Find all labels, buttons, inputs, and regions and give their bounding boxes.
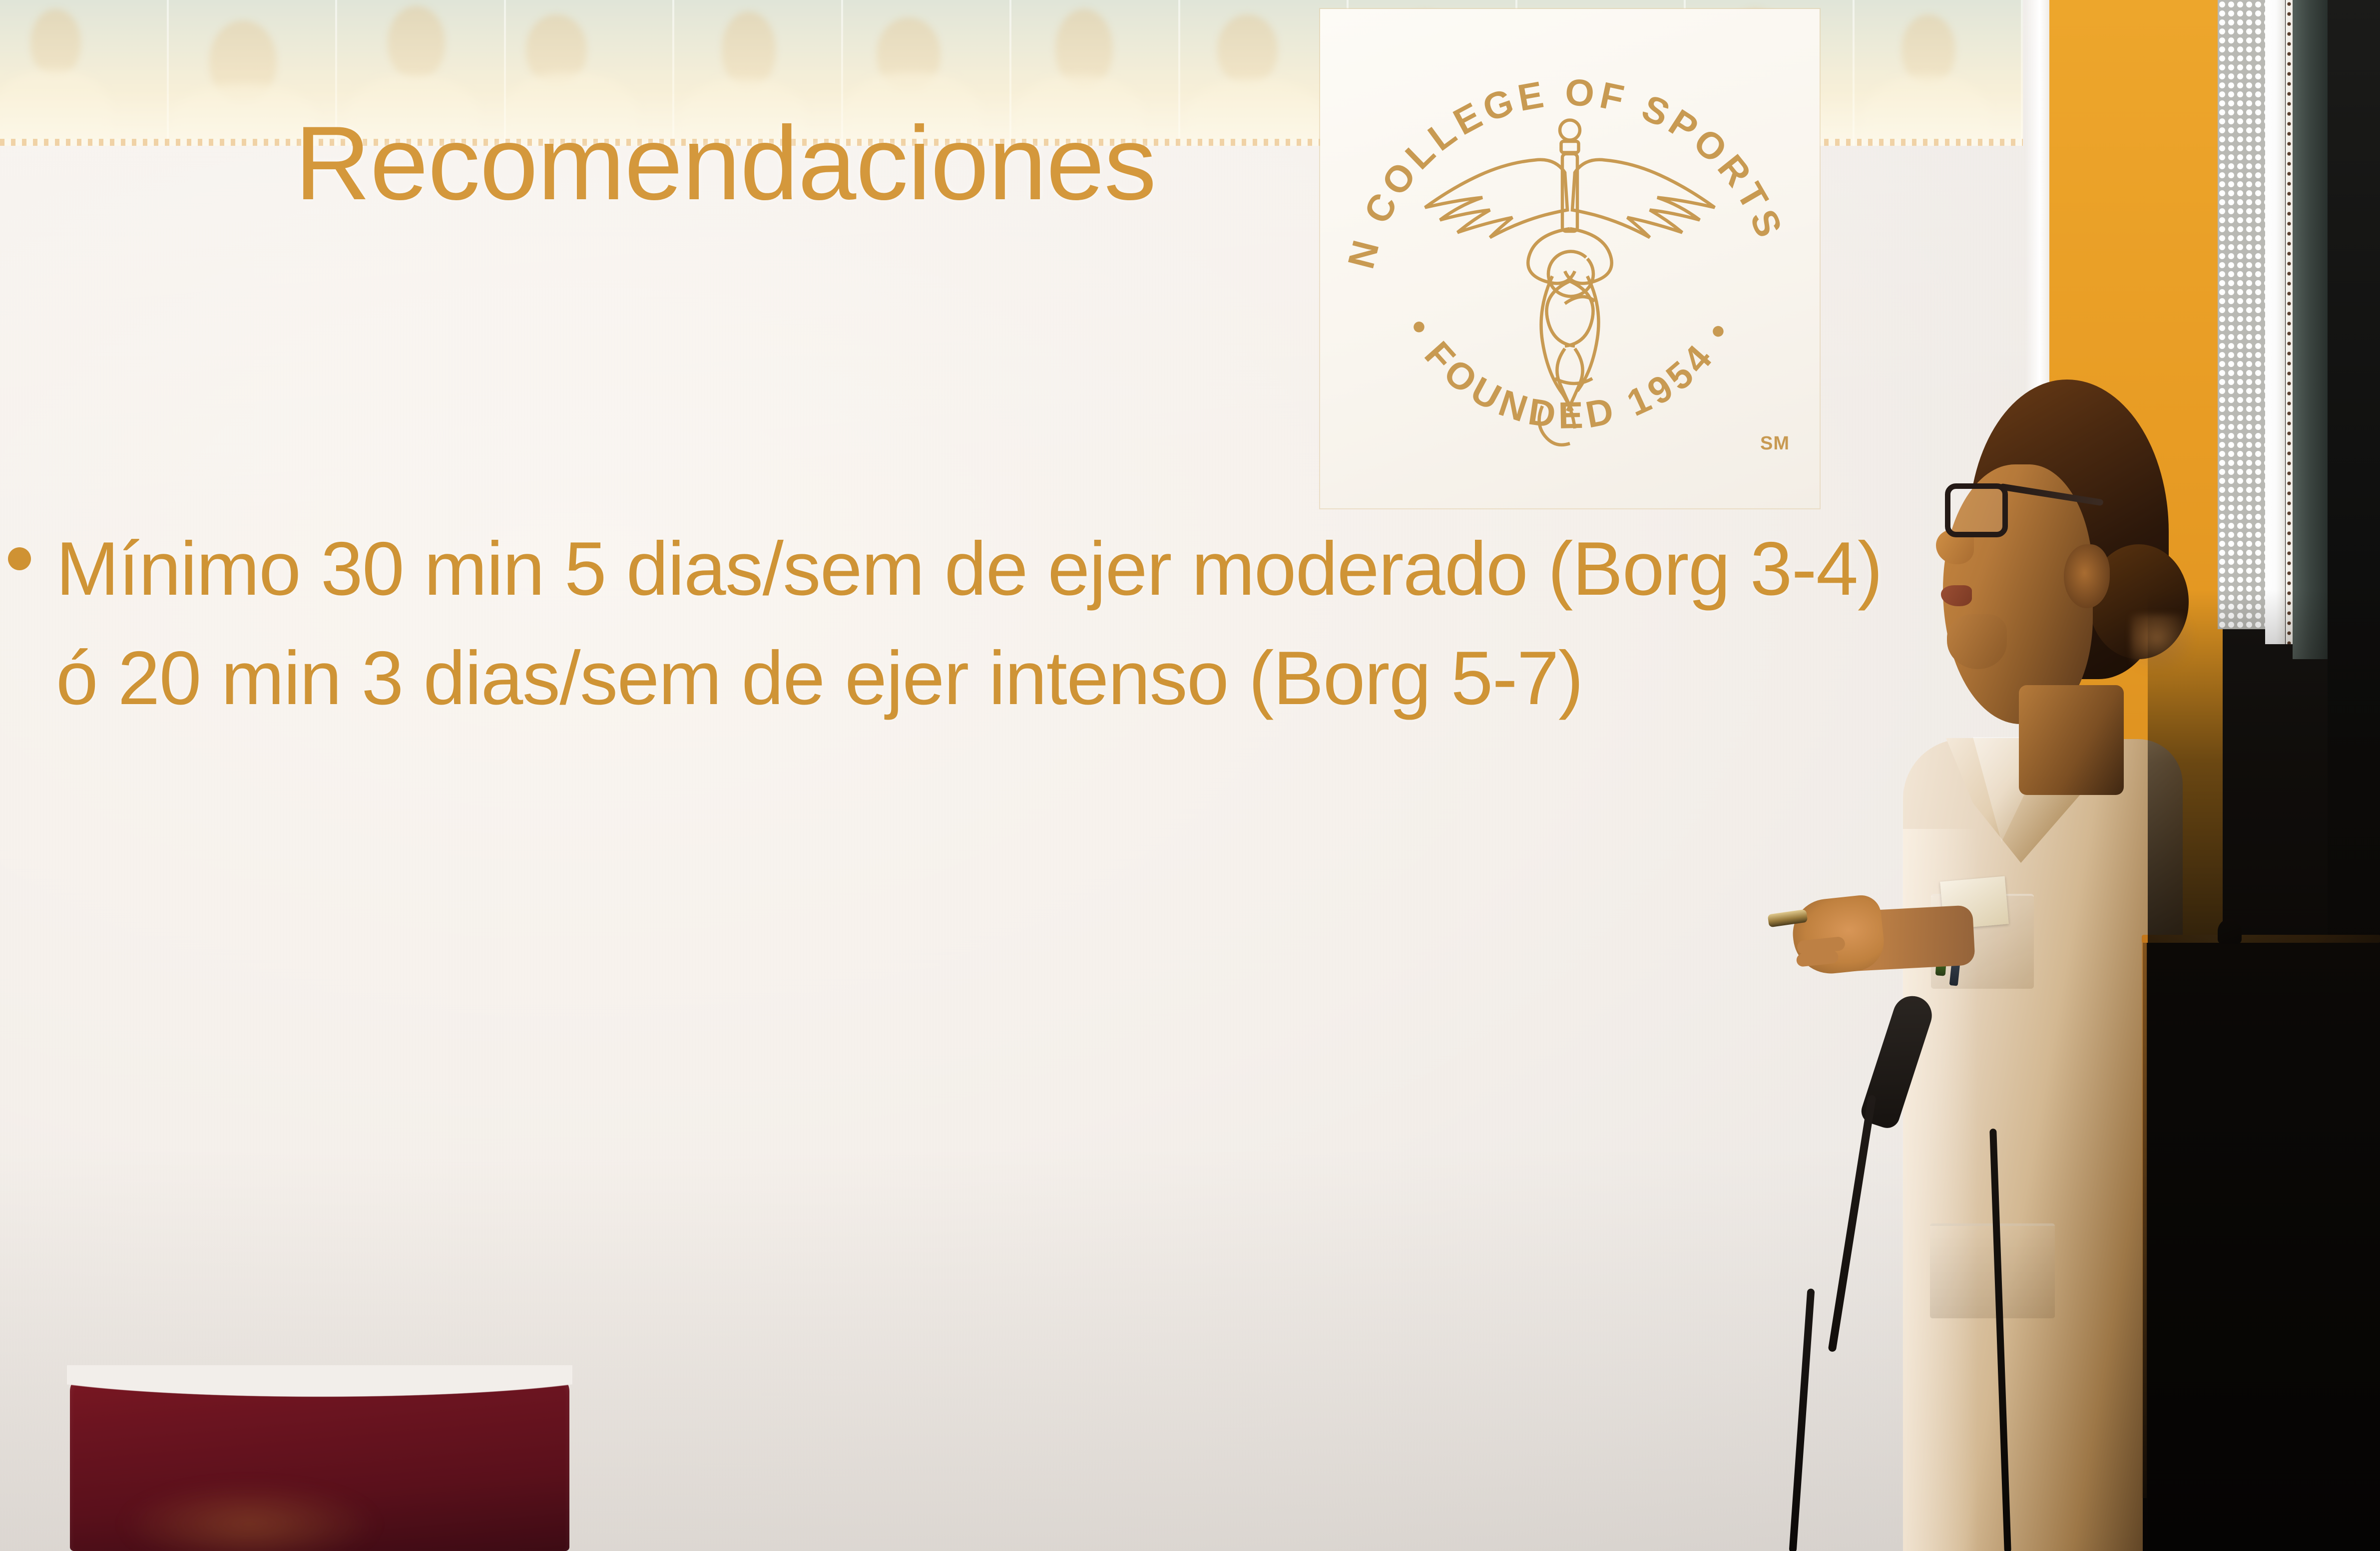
ear xyxy=(2064,544,2110,608)
svg-text:• FOUNDED 1954 •: • FOUNDED 1954 • xyxy=(1398,311,1742,436)
neck xyxy=(2019,685,2124,795)
logo-arc-top-text: AMERICAN COLLEGE OF SPORTS MEDICINE xyxy=(1320,9,1797,273)
svg-text:AMERICAN COLLEGE OF SPORTS MED: AMERICAN COLLEGE OF SPORTS MEDICINE xyxy=(1320,9,1797,273)
logo-arc-bottom-text: • FOUNDED 1954 • xyxy=(1398,311,1742,436)
glasses-icon xyxy=(1945,483,2008,537)
chin xyxy=(1947,614,2007,669)
lectern-side-edge xyxy=(2142,939,2147,1498)
bullet-point-icon xyxy=(8,547,31,570)
room-lower-shadow xyxy=(2148,589,2380,1551)
slide-title: Recomendaciones xyxy=(295,111,1156,216)
chair-highlight xyxy=(120,1484,380,1551)
presenter-hand xyxy=(1790,893,1887,977)
slide-bullet-text: Mínimo 30 min 5 dias/sem de ejer moderad… xyxy=(56,514,1928,733)
slide-bullet-item: Mínimo 30 min 5 dias/sem de ejer moderad… xyxy=(0,514,1928,733)
presentation-photo-scene: AMERICAN COLLEGE OF SPORTS MEDICINE • FO… xyxy=(0,0,2380,1551)
chair xyxy=(70,1374,569,1551)
chair-top-curve xyxy=(67,1365,572,1425)
presenter-head xyxy=(1939,380,2169,769)
coat-lower-pocket xyxy=(1930,1223,2055,1318)
